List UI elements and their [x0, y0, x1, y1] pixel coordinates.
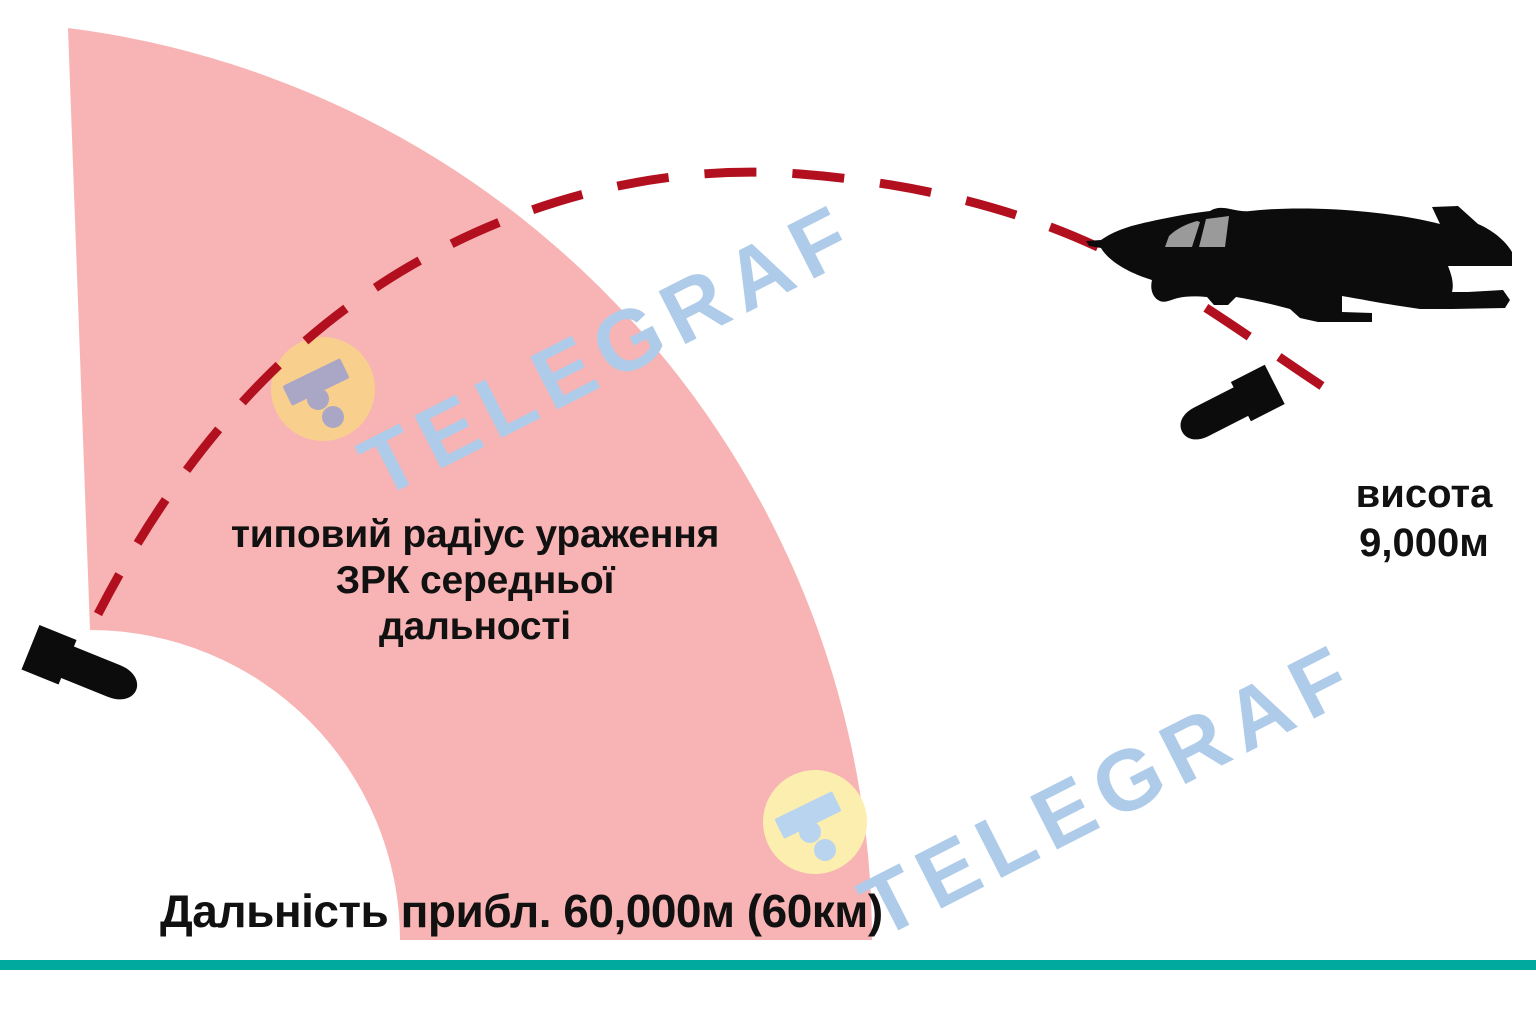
released-bomb-icon — [1172, 365, 1285, 451]
altitude-label: висота 9,000м — [1318, 470, 1530, 568]
engagement-zone-label: типовий радіус ураження ЗРК середньої да… — [165, 512, 785, 650]
infographic-canvas: TELEGRAF TELEGRAF — [0, 0, 1536, 1024]
falling-bomb-icon — [21, 625, 145, 712]
fighter-jet-icon — [1086, 206, 1512, 322]
bottom-divider — [0, 960, 1536, 970]
range-label: Дальність прибл. 60,000м (60км) — [160, 884, 1040, 938]
